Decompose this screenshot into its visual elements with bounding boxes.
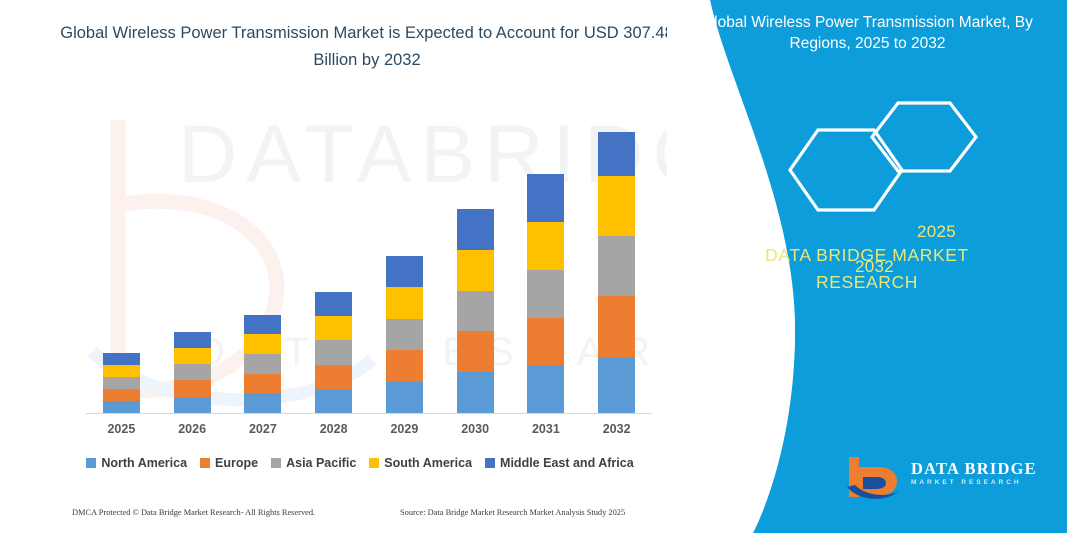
bar-segment[interactable] [386, 319, 423, 350]
page-title: Global Wireless Power Transmission Marke… [50, 20, 684, 74]
x-axis-tick-label: 2026 [157, 422, 228, 436]
bar-stack[interactable] [174, 332, 211, 413]
bar-stack[interactable] [103, 353, 140, 413]
bar-segment[interactable] [598, 357, 635, 413]
bar-segment[interactable] [527, 270, 564, 318]
legend-swatch-icon [485, 458, 495, 468]
bar-group [581, 120, 652, 413]
bar-segment[interactable] [174, 348, 211, 364]
bar-segment[interactable] [457, 372, 494, 413]
chart-legend: North AmericaEuropeAsia PacificSouth Ame… [0, 456, 720, 470]
x-axis-tick-label: 2032 [581, 422, 652, 436]
footer-source: Source: Data Bridge Market Research Mark… [400, 508, 625, 517]
bar-segment[interactable] [315, 365, 352, 389]
brand-name-line2: RESEARCH [687, 269, 1047, 296]
bar-segment[interactable] [315, 389, 352, 413]
x-axis-tick-label: 2025 [86, 422, 157, 436]
bar-segment[interactable] [386, 256, 423, 287]
bar-segment[interactable] [244, 315, 281, 335]
bar-group [298, 120, 369, 413]
x-axis-tick-label: 2027 [228, 422, 299, 436]
bar-stack[interactable] [598, 132, 635, 414]
legend-swatch-icon [369, 458, 379, 468]
legend-item[interactable]: Asia Pacific [271, 456, 356, 470]
bar-segment[interactable] [103, 365, 140, 377]
brand-name: DATA BRIDGE MARKET RESEARCH [687, 242, 1047, 296]
bar-stack[interactable] [244, 315, 281, 413]
x-axis-labels: 20252026202720282029203020312032 [86, 422, 652, 436]
bar-segment[interactable] [315, 292, 352, 316]
dbmr-logo-tagline: MARKET RESEARCH [911, 478, 1037, 488]
bar-segment[interactable] [103, 389, 140, 401]
legend-label: Asia Pacific [286, 456, 356, 470]
brand-panel-title: Global Wireless Power Transmission Marke… [695, 12, 1040, 54]
dbmr-logo: DATA BRIDGE MARKET RESEARCH [845, 453, 1045, 505]
legend-label: Middle East and Africa [500, 456, 634, 470]
hexagon-outlines-icon [772, 95, 1052, 220]
chart-panel: DATABRIDGE DATA RESEARCH Global Wireless… [0, 0, 720, 533]
bar-segment[interactable] [174, 397, 211, 413]
legend-item[interactable]: Middle East and Africa [485, 456, 634, 470]
legend-item[interactable]: Europe [200, 456, 258, 470]
bar-group [440, 120, 511, 413]
bar-segment[interactable] [527, 222, 564, 270]
legend-item[interactable]: South America [369, 456, 472, 470]
bar-segment[interactable] [315, 340, 352, 364]
bar-segment[interactable] [386, 350, 423, 381]
bar-group [86, 120, 157, 413]
bar-segment[interactable] [174, 380, 211, 396]
bar-segment[interactable] [315, 316, 352, 340]
bar-segment[interactable] [386, 382, 423, 413]
bar-segment[interactable] [598, 236, 635, 296]
legend-swatch-icon [200, 458, 210, 468]
bar-stack[interactable] [315, 292, 352, 413]
legend-swatch-icon [86, 458, 96, 468]
bar-group [511, 120, 582, 413]
bar-segment[interactable] [457, 331, 494, 372]
x-axis-line [86, 413, 652, 414]
legend-item[interactable]: North America [86, 456, 187, 470]
bar-segment[interactable] [244, 354, 281, 374]
stacked-bar-chart [86, 120, 652, 413]
x-axis-tick-label: 2028 [298, 422, 369, 436]
x-axis-tick-label: 2030 [440, 422, 511, 436]
legend-label: North America [101, 456, 187, 470]
infographic-root: DATABRIDGE DATA RESEARCH Global Wireless… [0, 0, 1067, 533]
bar-stack[interactable] [386, 256, 423, 413]
bar-segment[interactable] [457, 291, 494, 332]
brand-name-line1: DATA BRIDGE MARKET [687, 242, 1047, 269]
bar-segment[interactable] [244, 334, 281, 354]
bar-segment[interactable] [598, 296, 635, 356]
bar-group [228, 120, 299, 413]
bar-group [157, 120, 228, 413]
bar-stack[interactable] [457, 209, 494, 413]
bar-segment[interactable] [244, 393, 281, 413]
hexagon-label-start-year: 2025 [917, 222, 956, 242]
bar-segment[interactable] [244, 374, 281, 394]
bar-stack[interactable] [527, 174, 564, 413]
bar-segment[interactable] [103, 401, 140, 413]
bar-segment[interactable] [598, 132, 635, 176]
x-axis-tick-label: 2029 [369, 422, 440, 436]
x-axis-tick-label: 2031 [511, 422, 582, 436]
bar-segment[interactable] [174, 364, 211, 380]
bar-segment[interactable] [457, 250, 494, 291]
dbmr-logo-name: DATA BRIDGE [911, 459, 1037, 478]
footer-copyright: DMCA Protected © Data Bridge Market Rese… [72, 508, 315, 517]
dbmr-b-logo-icon [845, 453, 907, 503]
bar-segment[interactable] [386, 287, 423, 318]
bar-segment[interactable] [103, 377, 140, 389]
bar-segment[interactable] [527, 318, 564, 366]
brand-panel: Global Wireless Power Transmission Marke… [667, 0, 1067, 533]
legend-swatch-icon [271, 458, 281, 468]
bar-segment[interactable] [457, 209, 494, 250]
bar-segment[interactable] [598, 176, 635, 236]
hexagon-group: 2025 2032 [772, 95, 1052, 220]
bar-segment[interactable] [174, 332, 211, 348]
bar-group [369, 120, 440, 413]
legend-label: Europe [215, 456, 258, 470]
bar-segment[interactable] [527, 365, 564, 413]
bar-segment[interactable] [103, 353, 140, 365]
bar-segment[interactable] [527, 174, 564, 222]
legend-label: South America [384, 456, 472, 470]
